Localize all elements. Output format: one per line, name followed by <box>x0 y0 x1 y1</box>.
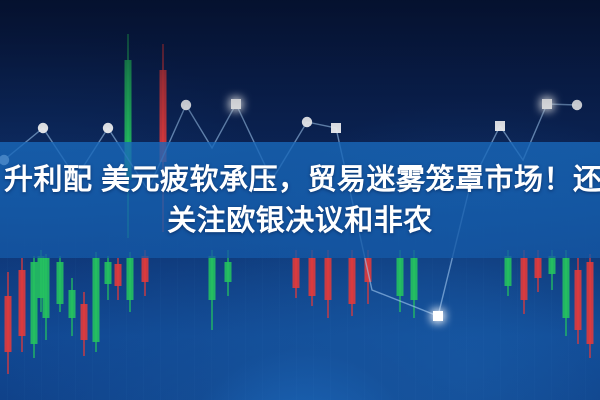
candle-body <box>81 304 88 340</box>
candle-body <box>225 262 232 282</box>
candle-body <box>309 258 316 296</box>
candle-body <box>397 258 404 296</box>
candle-body <box>505 256 512 286</box>
candle-body <box>115 264 122 286</box>
candle-body <box>38 256 45 298</box>
headline-text: 升利配 美元疲软承压，贸易迷雾笼罩市场！还需 关注欧银决议和非农 <box>0 160 600 242</box>
candle-body <box>19 270 26 336</box>
candle-body <box>57 262 64 304</box>
candle-body <box>293 258 300 288</box>
candle-body <box>521 258 528 300</box>
candle-body <box>325 258 332 300</box>
candle-body <box>5 296 12 352</box>
news-banner-image: 升利配 美元疲软承压，贸易迷雾笼罩市场！还需 关注欧银决议和非农 <box>0 0 600 400</box>
headline-line-1: 升利配 美元疲软承压，贸易迷雾笼罩市场！还需 <box>0 160 600 201</box>
headline-line-2: 关注欧银决议和非农 <box>0 201 600 242</box>
candle-body <box>575 270 582 330</box>
candle-body <box>411 258 418 300</box>
candle-body <box>349 258 356 304</box>
candle-body <box>105 262 112 284</box>
candle-body <box>549 256 556 274</box>
candle-body <box>587 262 594 344</box>
candle-body <box>69 290 76 318</box>
candle-body <box>142 256 149 282</box>
candle-body <box>535 258 542 278</box>
candle-body <box>93 258 100 342</box>
candle-body <box>31 262 38 344</box>
top-vignette <box>0 0 600 150</box>
network-node-square <box>433 311 443 321</box>
candle-body <box>127 258 134 300</box>
candle-body <box>563 258 570 318</box>
candle-body <box>209 256 216 300</box>
